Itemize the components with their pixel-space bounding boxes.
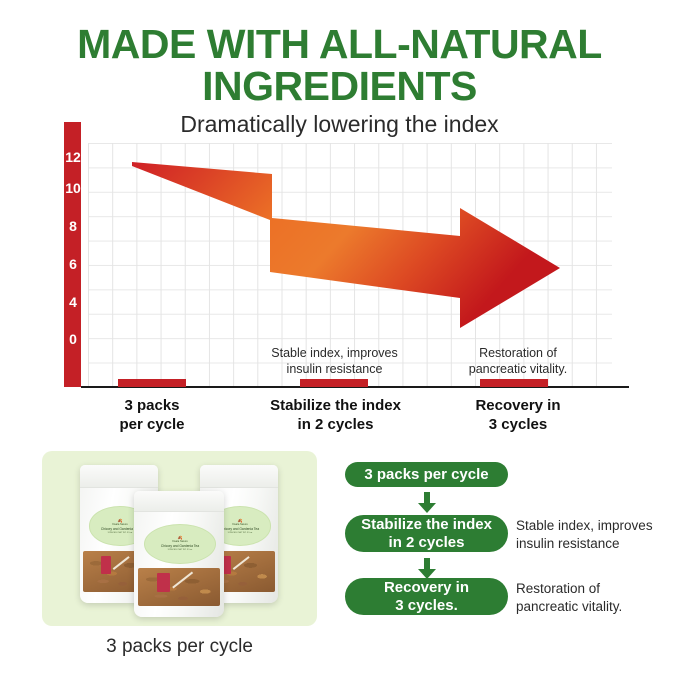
x-axis-label-2-line2: in 2 cycles xyxy=(248,416,423,435)
product-package-front: 🍂 Kwala Nature Chicory and Gardenia Tea … xyxy=(134,491,224,617)
package-brand: Kwala Nature xyxy=(172,540,188,543)
package-seal xyxy=(134,491,224,512)
x-axis-label-3-line2: 3 cycles xyxy=(443,416,593,435)
x-axis-label-1-line2: per cycle xyxy=(88,416,216,435)
x-axis-tick-1 xyxy=(118,379,186,387)
y-axis-tick-12: 12 xyxy=(58,149,88,165)
package-product: Chicory and Gardenia Tea xyxy=(161,544,199,548)
x-axis-tick-3 xyxy=(480,379,548,387)
flow-step-2-label-line2: in 2 cycles xyxy=(389,534,465,551)
y-axis-tick-6: 6 xyxy=(58,256,88,272)
flow-step-2-pill[interactable]: Stabilize the index in 2 cycles xyxy=(345,515,508,552)
chart-note-recovery: Restoration of pancreatic vitality. xyxy=(443,346,593,377)
x-axis-tick-2 xyxy=(300,379,368,387)
flow-step-3-label-line1: Recovery in xyxy=(384,579,469,596)
flow-step-3-pill[interactable]: Recovery in 3 cycles. xyxy=(345,578,508,615)
flow-arrow-1 xyxy=(417,492,437,514)
chart-note-stable-line1: Stable index, improves xyxy=(252,346,417,362)
flow-step-3-label-line2: 3 cycles. xyxy=(395,597,458,614)
chart-note-recovery-line2: pancreatic vitality. xyxy=(443,362,593,378)
package-seal xyxy=(80,465,158,488)
package-sub: 3 PIECES / NET WT. 3.5 oz xyxy=(108,532,133,534)
x-axis-label-2: Stabilize the index in 2 cycles xyxy=(248,397,423,435)
x-axis-label-1: 3 packs per cycle xyxy=(88,397,216,435)
package-tea-tag xyxy=(101,556,111,574)
x-axis-label-2-line1: Stabilize the index xyxy=(248,397,423,416)
package-brand: Kwala Nature xyxy=(232,523,248,526)
package-brand: Kwala Nature xyxy=(112,523,128,526)
y-axis-tick-8: 8 xyxy=(58,218,88,234)
x-axis-label-3: Recovery in 3 cycles xyxy=(443,397,593,435)
flow-step-2-label-line1: Stabilize the index xyxy=(361,516,492,533)
flow-step-2-note: Stable index, improves insulin resistanc… xyxy=(516,517,666,553)
package-product: Chicory and Gardenia Tea xyxy=(221,527,259,531)
x-axis-label-3-line1: Recovery in xyxy=(443,397,593,416)
package-tea-tag xyxy=(157,573,170,592)
chart-note-stable: Stable index, improves insulin resistanc… xyxy=(252,346,417,377)
chart-note-stable-line2: insulin resistance xyxy=(252,362,417,378)
flow-step-1-pill[interactable]: 3 packs per cycle xyxy=(345,462,508,487)
package-seal xyxy=(200,465,278,488)
y-axis-tick-0: 0 xyxy=(58,331,88,347)
package-window xyxy=(138,568,221,606)
x-axis-label-1-line1: 3 packs xyxy=(88,397,216,416)
flow-step-2-note-line2: insulin resistance xyxy=(516,535,666,553)
flow-step-3-note-line2: pancreatic vitality. xyxy=(516,598,666,616)
flow-step-2-note-line1: Stable index, improves xyxy=(516,517,666,535)
index-chart: 12 10 8 6 4 0 Stable index, improves ins… xyxy=(0,0,679,440)
package-sub: 3 PIECES / NET WT. 3.5 oz xyxy=(168,549,193,551)
package-sub: 3 PIECES / NET WT. 3.5 oz xyxy=(228,532,253,534)
photo-caption: 3 packs per cycle xyxy=(42,636,317,658)
chart-note-recovery-line1: Restoration of xyxy=(443,346,593,362)
product-photo-card: 🍂 Kwala Nature Chicory and Gardenia Tea … xyxy=(42,451,317,626)
y-axis-tick-10: 10 xyxy=(58,180,88,196)
flow-step-3-note-line1: Restoration of xyxy=(516,580,666,598)
y-axis-tick-4: 4 xyxy=(58,294,88,310)
infographic-page: MADE WITH ALL-NATURAL INGREDIENTS Dramat… xyxy=(0,0,679,679)
flow-step-1-label: 3 packs per cycle xyxy=(364,466,488,483)
flow-step-3-note: Restoration of pancreatic vitality. xyxy=(516,580,666,616)
package-label: 🍂 Kwala Nature Chicory and Gardenia Tea … xyxy=(144,524,216,564)
flow-arrow-2 xyxy=(417,558,437,580)
